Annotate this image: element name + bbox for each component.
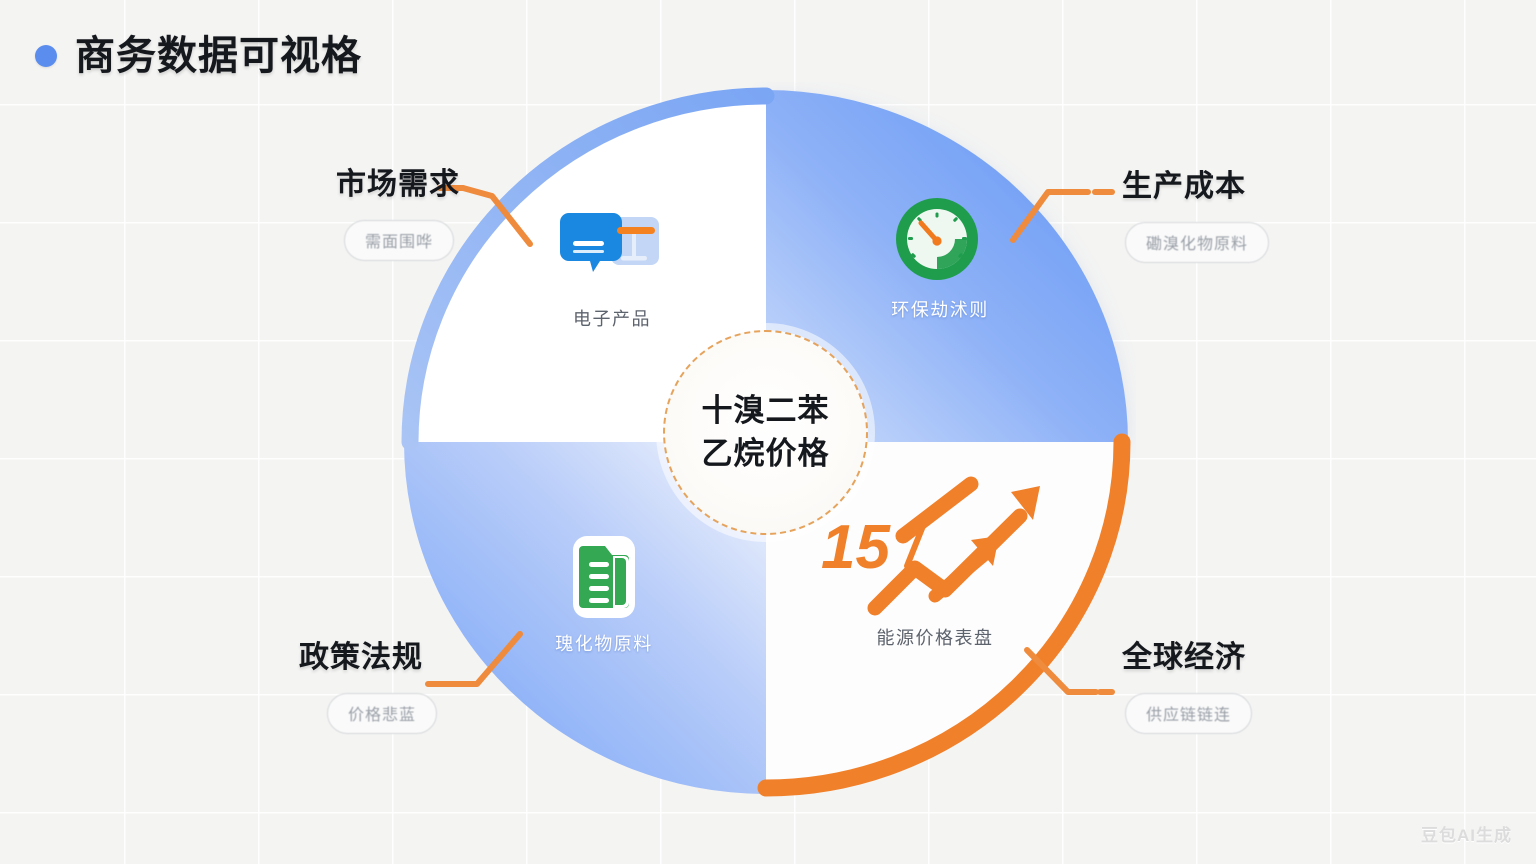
node-global-economy[interactable]: 15 15/ 能源价格表盘 (840, 468, 1030, 650)
node-market-demand[interactable]: 电子产品 (517, 205, 707, 331)
icon-value-label: 15 (821, 513, 891, 582)
callout-title: 生产成本 (1122, 172, 1269, 202)
callout-market-demand[interactable]: 市场需求 需面围哗 (336, 170, 460, 261)
bullet-dot-icon (35, 45, 57, 67)
callout-title: 市场需求 (336, 170, 460, 200)
center-label-line1: 十溴二苯 (702, 391, 830, 432)
callout-badge: 磡溴化物原料 (1125, 222, 1269, 263)
node-production-cost[interactable]: 环保劫沭则 (845, 196, 1035, 322)
page-title: 商务数据可视格 (75, 36, 362, 76)
node-caption: 环保劫沭则 (891, 296, 989, 322)
callout-production-cost[interactable]: 生产成本 磡溴化物原料 (1122, 172, 1269, 263)
callout-global-economy[interactable]: 全球经济 供应链链连 (1122, 643, 1252, 734)
watermark: 豆包AI生成 (1421, 821, 1512, 846)
callout-badge: 供应链链连 (1125, 693, 1252, 734)
callout-badge: 价格悲蓝 (327, 693, 437, 734)
gauge-icon (885, 196, 995, 282)
node-caption: 瑰化物原料 (555, 630, 653, 656)
chat-bubble-icon (557, 205, 667, 291)
callout-title: 政策法规 (299, 643, 423, 673)
node-policy-regulation[interactable]: 瑰化物原料 (509, 530, 699, 656)
callout-policy-regulation[interactable]: 政策法规 价格悲蓝 (299, 643, 437, 734)
document-folder-icon (549, 530, 659, 616)
callout-title: 全球经济 (1122, 643, 1252, 673)
node-caption: 电子产品 (573, 305, 651, 331)
page-title-row: 商务数据可视格 (35, 36, 362, 76)
trending-up-arrows-icon: 15 15/ (815, 468, 1055, 668)
callout-badge: 需面围哗 (344, 220, 454, 261)
center-label-line2: 乙烷价格 (702, 434, 830, 475)
